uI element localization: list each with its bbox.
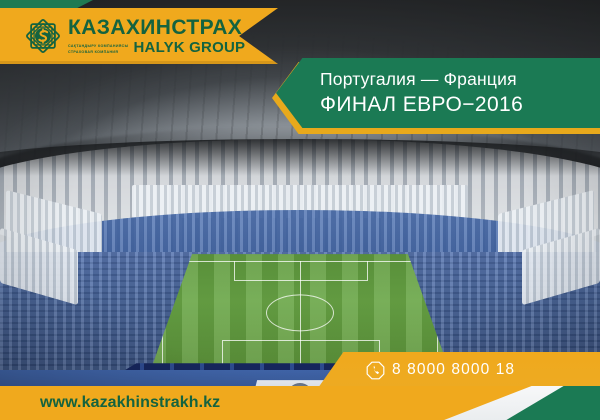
brand-subtitle-ru: СТРАХОВАЯ КОМПАНИЯ — [68, 50, 129, 55]
brand-lockup-text: КАЗАХИНСТРАХ САҚТАНДЫРУ КОМПАНИЯСЫ СТРАХ… — [68, 17, 245, 55]
phone-strip: 8 8000 8000 18 — [318, 352, 600, 388]
brand-header-bar: КАЗАХИНСТРАХ САҚТАНДЫРУ КОМПАНИЯСЫ СТРАХ… — [0, 8, 278, 64]
website-url[interactable]: www.kazakhinstrakh.kz — [0, 394, 220, 412]
match-teams: Португалия — Франция — [320, 69, 600, 91]
upper-tier-shadow — [0, 139, 600, 177]
brand-logo: КАЗАХИНСТРАХ САҚТАНДЫРУ КОМПАНИЯСЫ СТРАХ… — [0, 17, 245, 55]
kazakhinstrakh-octagram-logo-icon — [24, 17, 62, 55]
promo-poster: КАЗАХИНСТРАХ САҚТАНДЫРУ КОМПАНИЯСЫ СТРАХ… — [0, 0, 600, 420]
brand-subtitle-row: САҚТАНДЫРУ КОМПАНИЯСЫ СТРАХОВАЯ КОМПАНИЯ… — [68, 40, 245, 55]
brand-subtitle-bilingual: САҚТАНДЫРУ КОМПАНИЯСЫ СТРАХОВАЯ КОМПАНИЯ — [68, 44, 129, 55]
phone-number[interactable]: 8 8000 8000 18 — [392, 361, 515, 379]
match-title-banner: Португалия — Франция ФИНАЛ ЕВРО−2016 — [276, 58, 600, 128]
match-event-title: ФИНАЛ ЕВРО−2016 — [320, 92, 600, 117]
brand-group: HALYK GROUP — [134, 40, 246, 55]
pitch-centre-circle — [266, 294, 334, 331]
pitch-far-penalty-box — [234, 261, 368, 281]
phone-handset-in-octagon-icon — [366, 361, 385, 380]
brand-name: КАЗАХИНСТРАХ — [68, 17, 245, 38]
